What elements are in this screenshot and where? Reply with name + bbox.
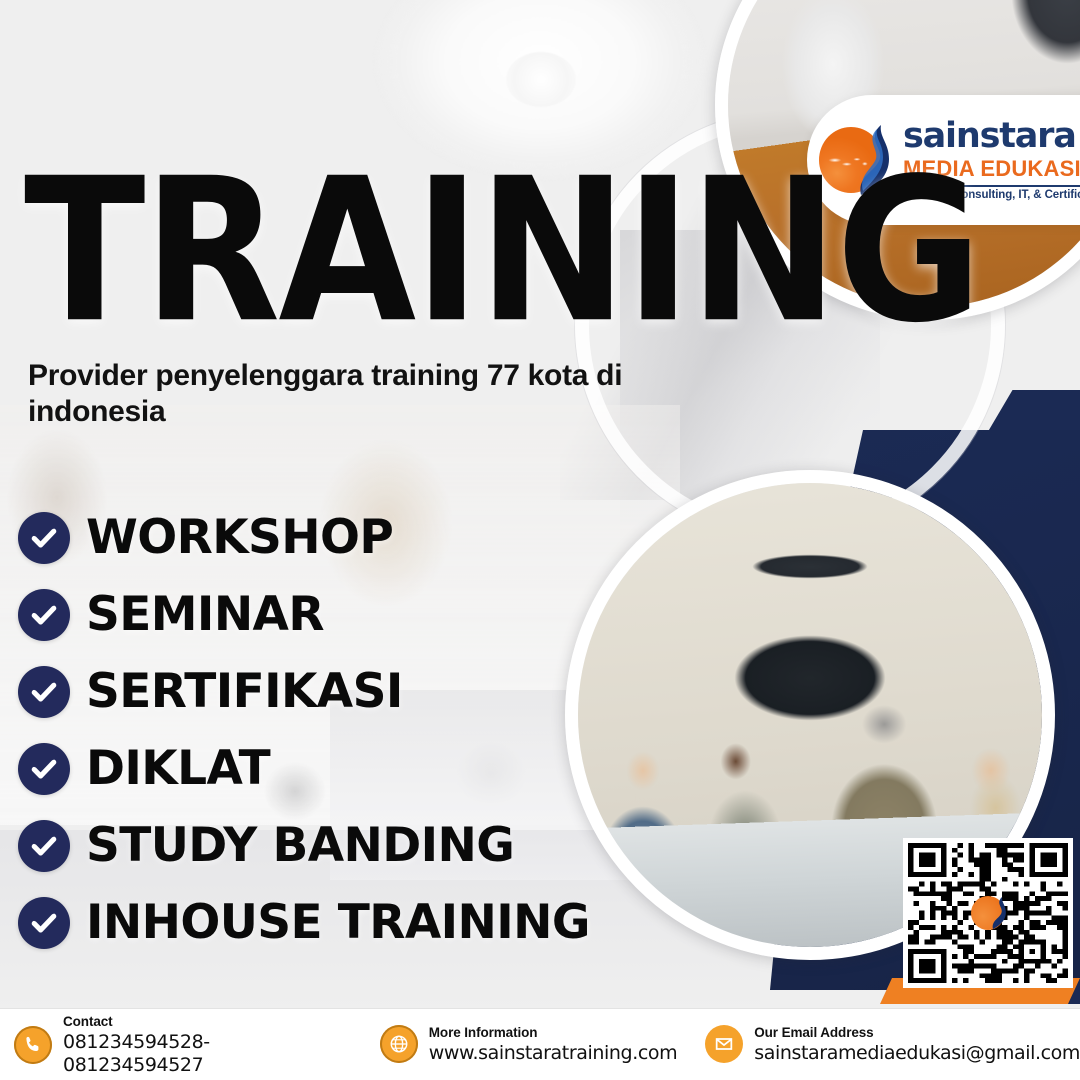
footer-contact-bar: Contact 081234594528-081234594527 More I… [0,1008,1080,1080]
footer-website[interactable]: More Information www.sainstaratraining.c… [380,1024,677,1065]
service-label: SERTIFIKASI [86,664,403,719]
footer-contact-label: Contact [63,1014,113,1029]
service-label: INHOUSE TRAINING [86,895,590,950]
footer-contact-value: 081234594528-081234594527 [63,1031,350,1077]
qr-logo-flame-icon [990,896,1007,930]
list-item: SEMINAR [18,582,658,647]
check-icon [18,666,70,718]
service-label: SEMINAR [86,587,324,642]
list-item: INHOUSE TRAINING [18,890,658,955]
globe-icon [380,1025,418,1063]
list-item: SERTIFIKASI [18,659,658,724]
footer-contact-text: Contact 081234594528-081234594527 [63,1013,350,1077]
envelope-icon [705,1025,743,1063]
check-icon [18,820,70,872]
check-icon [18,589,70,641]
page-subtitle: Provider penyelenggara training 77 kota … [28,358,668,430]
check-icon [18,897,70,949]
check-icon [18,743,70,795]
service-label: DIKLAT [86,741,270,796]
qr-code[interactable] [903,838,1073,988]
poster-canvas: sainstara MEDIA EDUKASI Training, Consul… [0,0,1080,1080]
footer-email-text: Our Email Address sainstaramediaedukasi@… [754,1024,1080,1065]
footer-email[interactable]: Our Email Address sainstaramediaedukasi@… [705,1024,1080,1065]
footer-website-value: www.sainstaratraining.com [429,1042,677,1065]
footer-email-label: Our Email Address [754,1025,873,1040]
service-list: WORKSHOP SEMINAR SERTIFIKASI DIKLAT STUD… [18,505,658,967]
list-item: WORKSHOP [18,505,658,570]
service-label: WORKSHOP [86,510,393,565]
qr-center-logo-icon [971,896,1005,930]
page-title: TRAINING [24,160,980,342]
list-item: DIKLAT [18,736,658,801]
phone-icon [14,1026,52,1064]
footer-email-value: sainstaramediaedukasi@gmail.com [754,1042,1080,1065]
service-label: STUDY BANDING [86,818,514,873]
list-item: STUDY BANDING [18,813,658,878]
footer-contact-phone[interactable]: Contact 081234594528-081234594527 [14,1013,350,1077]
footer-website-label: More Information [429,1025,538,1040]
footer-website-text: More Information www.sainstaratraining.c… [429,1024,677,1065]
check-icon [18,512,70,564]
